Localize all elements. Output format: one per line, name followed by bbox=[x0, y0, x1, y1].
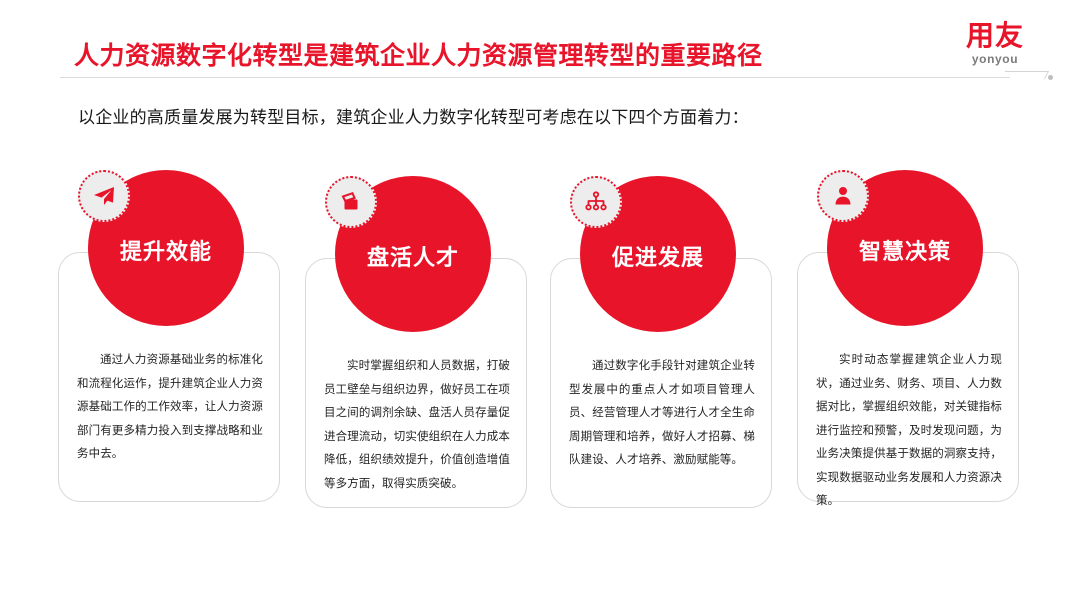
slide: 人力资源数字化转型是建筑企业人力资源管理转型的重要路径 用友 yonyou 以企… bbox=[0, 0, 1080, 607]
user-icon bbox=[831, 184, 855, 208]
org-chart-icon bbox=[584, 190, 608, 214]
card-4-body: 实时动态掌握建筑企业人力现状，通过业务、财务、项目、人力数据对比，掌握组织效能，… bbox=[816, 349, 1002, 514]
card-3-icon-bubble bbox=[570, 176, 622, 228]
paper-plane-icon bbox=[92, 184, 116, 208]
cards-container: 通过人力资源基础业务的标准化和流程化运作，提升建筑企业人力资源基础工作的工作效率… bbox=[0, 0, 1080, 607]
card-3-label: 促进发展 bbox=[612, 240, 704, 272]
card-2-icon-bubble bbox=[325, 176, 377, 228]
card-4-label: 智慧决策 bbox=[859, 234, 951, 266]
card-1-icon-bubble bbox=[78, 170, 130, 222]
card-3-body: 通过数字化手段针对建筑企业转型发展中的重点人才如项目管理人员、经营管理人才等进行… bbox=[569, 355, 755, 473]
card-1-body: 通过人力资源基础业务的标准化和流程化运作，提升建筑企业人力资源基础工作的工作效率… bbox=[77, 349, 263, 467]
card-2-label: 盘活人才 bbox=[367, 240, 459, 272]
briefcase-icon bbox=[339, 190, 363, 214]
card-4-icon-bubble bbox=[817, 170, 869, 222]
card-2-body: 实时掌握组织和人员数据，打破员工壁垒与组织边界，做好员工在项目之间的调剂余缺、盘… bbox=[324, 355, 510, 496]
card-1-label: 提升效能 bbox=[120, 234, 212, 266]
